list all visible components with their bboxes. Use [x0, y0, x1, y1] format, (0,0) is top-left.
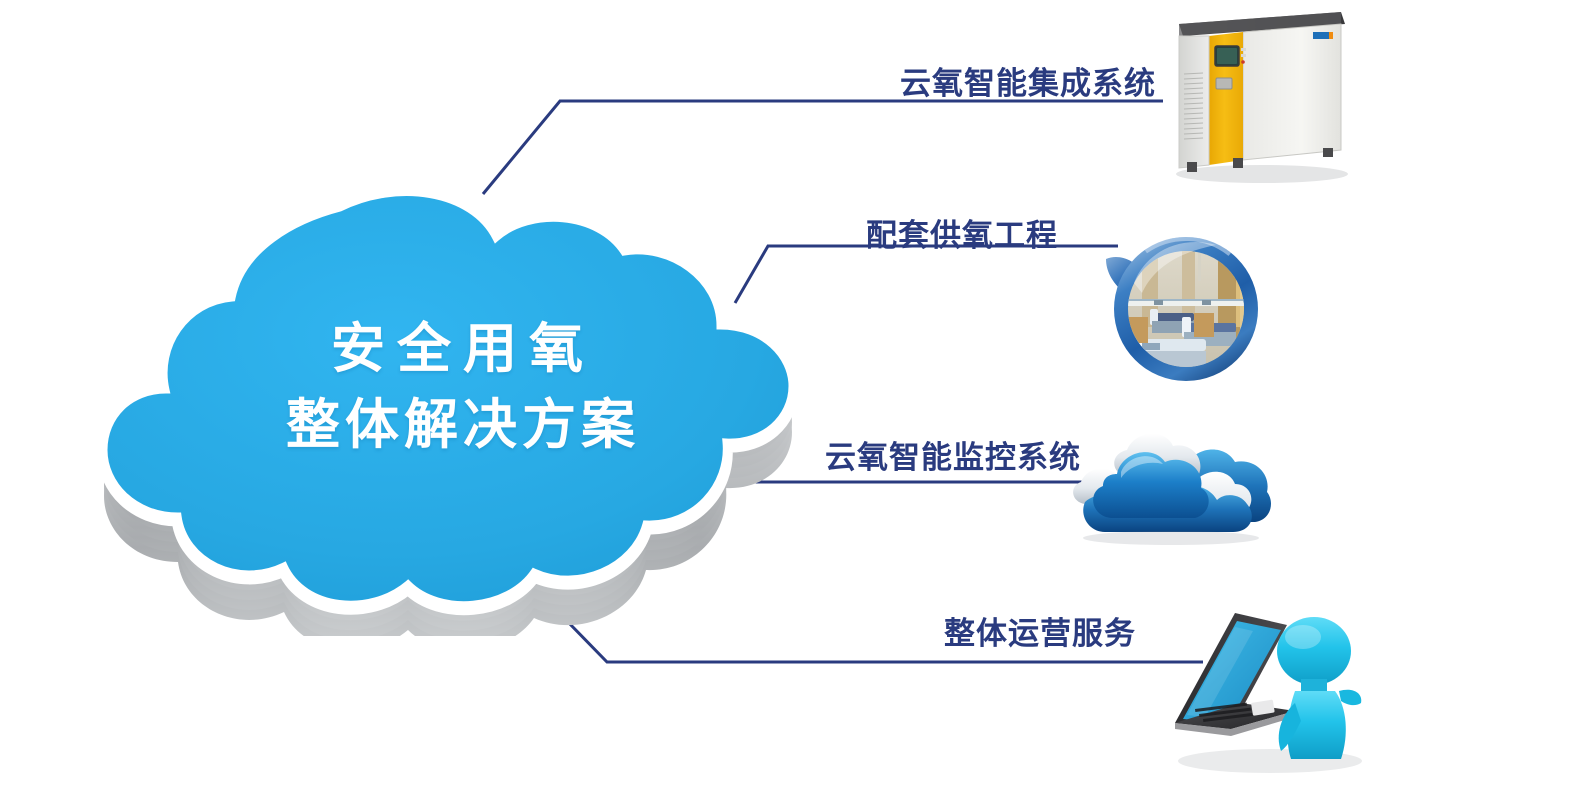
cloud-cluster-shadow [1083, 531, 1259, 545]
ward-curtain-2 [1182, 251, 1195, 321]
person-head-gloss [1285, 625, 1321, 649]
branch-label-3[interactable]: 云氧智能监控系统 [825, 432, 1081, 477]
oxygen-generator-machine-photo[interactable] [1157, 2, 1357, 187]
machine-brand-badge-icon [1313, 32, 1329, 39]
ward-rail-outlet-2 [1202, 300, 1211, 305]
machine-leg-right [1323, 148, 1333, 157]
cloud-shape-icon [78, 186, 848, 636]
person-laptop-icon[interactable] [1155, 595, 1370, 780]
person-head [1277, 617, 1351, 685]
machine-brand-badge-accent-icon [1329, 32, 1333, 39]
machine-leg-mid [1233, 158, 1243, 168]
machine-indicator-1 [1241, 48, 1246, 51]
machine-control-button[interactable] [1216, 78, 1232, 89]
machine-right-panel [1243, 24, 1341, 160]
ward-ceiling-pole [1198, 251, 1201, 281]
machine-display-glow [1217, 48, 1237, 64]
machine-ground-shadow [1176, 165, 1348, 183]
person-arm-right [1339, 690, 1361, 705]
ward-rail-outlet-1 [1154, 300, 1163, 305]
machine-indicator-led [1241, 60, 1245, 64]
connector-line-1 [483, 101, 1163, 194]
ward-nightstand-2 [1194, 313, 1214, 337]
cloud-cluster-icon[interactable] [1055, 420, 1280, 550]
branch-label-2[interactable]: 配套供氧工程 [866, 210, 1058, 255]
branch-label-4[interactable]: 整体运营服务 [944, 608, 1136, 653]
machine-leg-left [1187, 162, 1197, 172]
hospital-ward-circle-photo[interactable] [1090, 217, 1270, 397]
machine-left-panel [1179, 36, 1209, 168]
machine-indicator-2 [1241, 54, 1246, 57]
diagram-canvas: 安全用氧 整体解决方案 云氧智能集成系统 配套供氧工程 云氧智能监控系统 整体运… [0, 0, 1583, 789]
branch-label-1[interactable]: 云氧智能集成系统 [900, 58, 1156, 103]
central-cloud: 安全用氧 整体解决方案 [78, 186, 848, 636]
